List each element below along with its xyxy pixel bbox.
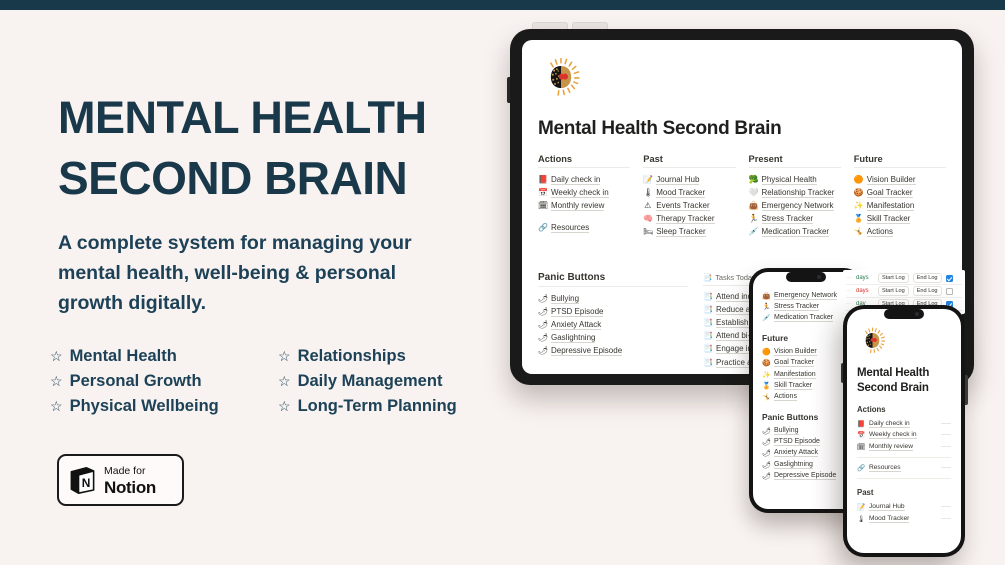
link-label: Skill Tracker — [774, 382, 812, 390]
link-manifestation[interactable]: ✨ Manifestation — [762, 369, 850, 380]
link-sleep-tracker[interactable]: 🛏 Sleep Tracker — [643, 226, 735, 239]
syringe-icon: 💉 — [749, 228, 758, 236]
link-vision-builder[interactable]: 🟠 Vision Builder — [854, 173, 946, 186]
notebook-icon: 📕 — [857, 420, 865, 428]
syringe-icon: 💉 — [762, 314, 770, 322]
link-label: Medication Tracker — [762, 227, 830, 237]
link-columns: Actions 📕 Daily check in 📅 Weekly check … — [538, 154, 946, 239]
link-goal-tracker[interactable]: 🍪 Goal Tracker — [854, 186, 946, 199]
chili-icon: 🌶 — [538, 308, 547, 316]
link-physical-health[interactable]: 🥦 Physical Health — [749, 173, 841, 186]
link-skill-tracker[interactable]: 🏅 Skill Tracker — [854, 213, 946, 226]
table-row[interactable]: ··· days Start Log End Log — [846, 285, 962, 298]
end-log-button[interactable]: End Log — [913, 273, 942, 283]
chili-icon: 🌶 — [762, 438, 770, 446]
section-header-future: Future — [762, 333, 850, 343]
link-icon: 🔗 — [538, 224, 547, 232]
link-label: Depressive Episode — [774, 472, 836, 480]
link-actions[interactable]: 🤸 Actions — [854, 226, 946, 239]
link-label: Events Tracker — [656, 201, 709, 211]
link-label: Physical Health — [762, 175, 817, 185]
notes-icon: 📝 — [643, 176, 652, 184]
notebook-icon: 📕 — [538, 176, 547, 184]
link-medication-tracker[interactable]: 💉 Medication Tracker — [762, 312, 850, 323]
link-bullying[interactable]: 🌶 Bullying — [762, 426, 850, 437]
link-label: Goal Tracker — [867, 188, 913, 198]
link-label: Emergency Network — [762, 201, 834, 211]
cookie-icon: 🍪 — [854, 189, 863, 197]
link-weekly-check-in[interactable]: 📅 Weekly check in ––– — [857, 429, 951, 441]
section-header-past: Past — [857, 488, 951, 497]
chili-icon: 🌶 — [538, 295, 547, 303]
brain-heart-logo-icon — [857, 325, 888, 356]
link-vision-builder[interactable]: 🟠 Vision Builder — [762, 347, 850, 358]
bag-icon: 👜 — [762, 292, 770, 300]
runner-icon: 🏃 — [762, 303, 770, 311]
link-label: Skill Tracker — [867, 214, 911, 224]
link-journal-hub[interactable]: 📝 Journal Hub — [643, 173, 735, 186]
link-label: Gaslightning — [551, 333, 595, 343]
list-icon: 📑 — [703, 319, 712, 327]
link-label: Gaslightning — [774, 461, 813, 469]
link-label: PTSD Episode — [774, 438, 820, 446]
link-mood-tracker[interactable]: 🌡 Mood Tracker ––– — [857, 513, 951, 525]
row-menu-icon[interactable]: ––– — [941, 516, 951, 522]
calendar-icon: 🗓 — [857, 443, 865, 451]
person-icon: 🤸 — [854, 228, 863, 236]
chili-icon: 🌶 — [762, 472, 770, 480]
column-header: Present — [749, 154, 841, 168]
link-weekly-check-in[interactable]: 📅 Weekly check in — [538, 186, 630, 199]
thermometer-icon: 🌡 — [643, 189, 652, 197]
link-emergency-network[interactable]: 👜 Emergency Network — [762, 290, 850, 301]
link-depressive-episode[interactable]: 🌶 Depressive Episode — [762, 470, 850, 481]
calendar-icon: 📅 — [538, 189, 547, 197]
chili-icon: 🌶 — [538, 334, 547, 342]
link-label: Medication Tracker — [774, 314, 833, 322]
brain-heart-logo-icon — [538, 54, 584, 100]
link-icon: 🔗 — [857, 464, 865, 472]
link-label: Daily check in — [869, 420, 910, 428]
link-label: Actions — [774, 393, 797, 401]
link-monthly-review[interactable]: 🗓 Monthly review ––– — [857, 441, 951, 453]
column-header: Actions — [538, 154, 630, 168]
link-journal-hub[interactable]: 📝 Journal Hub ––– — [857, 501, 951, 513]
start-log-button[interactable]: Start Log — [878, 273, 909, 283]
phone-page-title: Mental Health Second Brain — [857, 366, 951, 396]
list-icon: 📑 — [703, 332, 712, 340]
link-label: Anxiety Attack — [774, 449, 818, 457]
section-header-actions: Actions — [857, 405, 951, 414]
link-label: Vision Builder — [867, 175, 916, 185]
circle-icon: 🟠 — [854, 176, 863, 184]
link-label: Mood Tracker — [869, 515, 909, 523]
link-depressive-episode[interactable]: 🌶 Depressive Episode — [538, 345, 688, 358]
title-line-2: Second Brain — [857, 382, 929, 394]
column-header: Past — [643, 154, 735, 168]
link-label: Actions — [867, 227, 893, 237]
divider — [857, 478, 951, 479]
notes-icon: 📝 — [857, 503, 865, 511]
link-resources[interactable]: 🔗 Resources ––– — [857, 463, 951, 475]
link-stress-tracker[interactable]: 🏃 Stress Tracker — [749, 213, 841, 226]
link-label: Bullying — [774, 427, 799, 435]
link-label: Stress Tracker — [774, 303, 819, 311]
runner-icon: 🏃 — [749, 215, 758, 223]
link-label: Journal Hub — [656, 175, 699, 185]
link-label: Depressive Episode — [551, 346, 622, 356]
heart-icon: 🤍 — [749, 189, 758, 197]
link-label: Monthly review — [869, 443, 913, 451]
device-mockups: Mental Health Second Brain Actions 📕 Dai… — [0, 0, 1005, 565]
row-menu-icon[interactable]: ––– — [941, 465, 951, 471]
chili-icon: 🌶 — [538, 347, 547, 355]
row-checkbox[interactable] — [946, 288, 953, 295]
link-medication-tracker[interactable]: 💉 Medication Tracker — [749, 226, 841, 239]
link-label: Anxiety Attack — [551, 320, 601, 330]
link-stress-tracker[interactable]: 🏃 Stress Tracker — [762, 301, 850, 312]
warning-icon: ⚠ — [643, 202, 652, 210]
link-bullying[interactable]: 🌶 Bullying — [538, 292, 688, 305]
link-ptsd-episode[interactable]: 🌶 PTSD Episode — [762, 437, 850, 448]
link-label: Stress Tracker — [762, 214, 814, 224]
title-line-1: Mental Health — [857, 367, 929, 379]
link-label: Vision Builder — [774, 348, 817, 356]
phone-notch — [786, 272, 826, 282]
link-gaslightning[interactable]: 🌶 Gaslightning — [762, 459, 850, 470]
link-daily-check-in[interactable]: 📕 Daily check in ––– — [857, 418, 951, 430]
chili-icon: 🌶 — [762, 449, 770, 457]
list-icon: 📑 — [703, 306, 712, 314]
link-label: Daily check in — [551, 175, 600, 185]
bag-icon: 👜 — [749, 202, 758, 210]
link-label: Manifestation — [774, 371, 816, 379]
calendar-icon: 🗓 — [538, 202, 547, 210]
medal-icon: 🏅 — [854, 215, 863, 223]
notion-page-title: Mental Health Second Brain — [538, 118, 946, 140]
link-anxiety-attack[interactable]: 🌶 Anxiety Attack — [762, 448, 850, 459]
cookie-icon: 🍪 — [762, 359, 770, 367]
drag-handle-icon[interactable]: ··· — [846, 275, 852, 281]
link-label: Resources — [551, 223, 589, 233]
start-log-button[interactable]: Start Log — [878, 286, 909, 296]
sparkles-icon: ✨ — [762, 371, 770, 379]
day-cell: days — [856, 288, 874, 294]
thermometer-icon: 🌡 — [857, 515, 865, 523]
calendar-icon: 📅 — [857, 431, 865, 439]
person-icon: 🤸 — [762, 393, 770, 401]
link-manifestation[interactable]: ✨ Manifestation — [854, 199, 946, 212]
circle-icon: 🟠 — [762, 348, 770, 356]
sparkles-icon: ✨ — [854, 202, 863, 210]
phone-front-screen: Mental Health Second Brain Actions 📕 Dai… — [847, 309, 961, 553]
link-ptsd-episode[interactable]: 🌶 PTSD Episode — [538, 305, 688, 318]
brain-icon: 🧠 — [643, 215, 652, 223]
link-emergency-network[interactable]: 👜 Emergency Network — [749, 199, 841, 212]
link-therapy-tracker[interactable]: 🧠 Therapy Tracker — [643, 213, 735, 226]
link-gaslightning[interactable]: 🌶 Gaslightning — [538, 332, 688, 345]
phone-notch — [884, 309, 924, 319]
promo-banner: MENTAL HEALTH SECOND BRAIN A complete sy… — [0, 0, 1005, 565]
row-menu-icon[interactable]: ––– — [941, 432, 951, 438]
column-present: Present 🥦 Physical Health 🤍 Relationship… — [749, 154, 841, 239]
panic-buttons-section: Panic Buttons 🌶 Bullying 🌶 PTSD Episode … — [538, 272, 688, 358]
row-menu-icon[interactable]: ––– — [941, 444, 951, 450]
row-menu-icon[interactable]: ––– — [941, 504, 951, 510]
link-label: Therapy Tracker — [656, 214, 714, 224]
link-daily-check-in[interactable]: 📕 Daily check in — [538, 173, 630, 186]
link-label: Weekly check in — [869, 431, 917, 439]
link-mood-tracker[interactable]: 🌡 Mood Tracker — [643, 186, 735, 199]
bed-icon: 🛏 — [643, 228, 652, 236]
chili-icon: 🌶 — [538, 321, 547, 329]
drag-handle-icon[interactable]: ··· — [846, 288, 852, 294]
link-goal-tracker[interactable]: 🍪 Goal Tracker — [762, 358, 850, 369]
list-icon: 📑 — [703, 293, 712, 301]
link-label: PTSD Episode — [551, 307, 603, 317]
column-future: Future 🟠 Vision Builder 🍪 Goal Tracker ✨ — [854, 154, 946, 239]
row-checkbox[interactable] — [946, 275, 953, 282]
list-icon: 📑 — [703, 359, 712, 367]
phone-device-front: Mental Health Second Brain Actions 📕 Dai… — [843, 305, 965, 557]
link-anxiety-attack[interactable]: 🌶 Anxiety Attack — [538, 318, 688, 331]
link-label: Goal Tracker — [774, 359, 814, 367]
link-monthly-review[interactable]: 🗓 Monthly review — [538, 199, 630, 212]
column-past: Past 📝 Journal Hub 🌡 Mood Tracker ⚠ — [643, 154, 735, 239]
drag-handle-icon[interactable]: ··· — [846, 301, 852, 307]
day-cell: days — [856, 275, 874, 281]
link-resources[interactable]: 🔗 Resources — [538, 222, 630, 235]
link-label: Bullying — [551, 294, 579, 304]
chili-icon: 🌶 — [762, 427, 770, 435]
section-header: Panic Buttons — [538, 272, 688, 287]
link-label: Journal Hub — [869, 503, 905, 511]
link-skill-tracker[interactable]: 🏅 Skill Tracker — [762, 380, 850, 391]
link-events-tracker[interactable]: ⚠ Events Tracker — [643, 199, 735, 212]
column-actions: Actions 📕 Daily check in 📅 Weekly check … — [538, 154, 630, 239]
link-label: Resources — [869, 464, 901, 472]
chili-icon: 🌶 — [762, 461, 770, 469]
link-relationship-tracker[interactable]: 🤍 Relationship Tracker — [749, 186, 841, 199]
link-label: Emergency Network — [774, 292, 837, 300]
list-icon: 📑 — [703, 273, 712, 282]
table-row[interactable]: ··· days Start Log End Log — [846, 272, 962, 285]
link-label: Sleep Tracker — [656, 227, 705, 237]
link-label: Weekly check in — [551, 188, 609, 198]
broccoli-icon: 🥦 — [749, 176, 758, 184]
medal-icon: 🏅 — [762, 382, 770, 390]
link-actions[interactable]: 🤸 Actions — [762, 391, 850, 402]
end-log-button[interactable]: End Log — [913, 286, 942, 296]
section-header-panic: Panic Buttons — [762, 412, 850, 422]
link-label: Relationship Tracker — [762, 188, 835, 198]
row-menu-icon[interactable]: ––– — [941, 421, 951, 427]
link-label: Mood Tracker — [656, 188, 705, 198]
tab-tasks-today[interactable]: 📑 Tasks Today — [703, 273, 756, 282]
link-label: Monthly review — [551, 201, 604, 211]
link-label: Manifestation — [867, 201, 915, 211]
column-header: Future — [854, 154, 946, 168]
list-icon: 📑 — [703, 345, 712, 353]
